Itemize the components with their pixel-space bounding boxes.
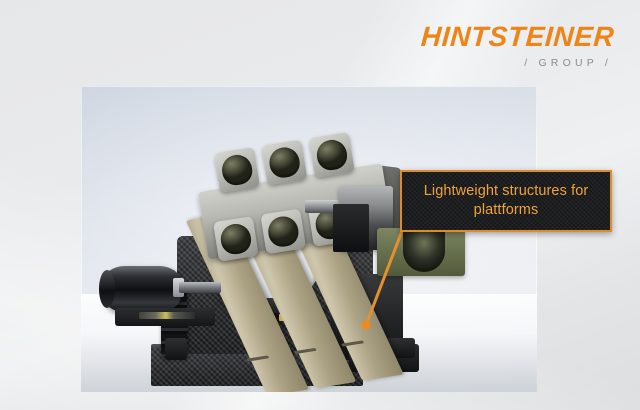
callout-line-2: plattforms — [474, 202, 539, 218]
launcher-assembly — [81, 86, 537, 392]
sensor-tray-connectors — [139, 312, 195, 319]
launch-cell-bottom-left — [213, 216, 259, 262]
left-foot — [165, 338, 187, 360]
hintsteiner-group-logo: HINTSTEINER / GROUP / — [421, 22, 614, 69]
callout-text: Lightweight structures for plattforms — [416, 182, 597, 220]
launch-cell-bottom-center — [260, 209, 306, 255]
sensor-pod-mounting-shaft — [179, 282, 221, 293]
sensor-pod-front-cap — [99, 270, 115, 308]
launch-cell-top-center — [262, 140, 308, 186]
slide-canvas: HINTSTEINER / GROUP / — [0, 0, 640, 410]
launch-cell-top-right — [309, 132, 355, 178]
electronics-box-port — [403, 232, 445, 272]
gearbox-shadow-panel — [333, 204, 369, 252]
logo-tagline: / GROUP / — [421, 57, 614, 69]
callout-box[interactable]: Lightweight structures for plattforms — [400, 170, 612, 232]
product-photo — [81, 86, 537, 392]
launch-cell-top-left — [214, 147, 260, 193]
callout-line-1: Lightweight structures for — [424, 183, 589, 199]
logo-wordmark: HINTSTEINER — [420, 22, 615, 52]
